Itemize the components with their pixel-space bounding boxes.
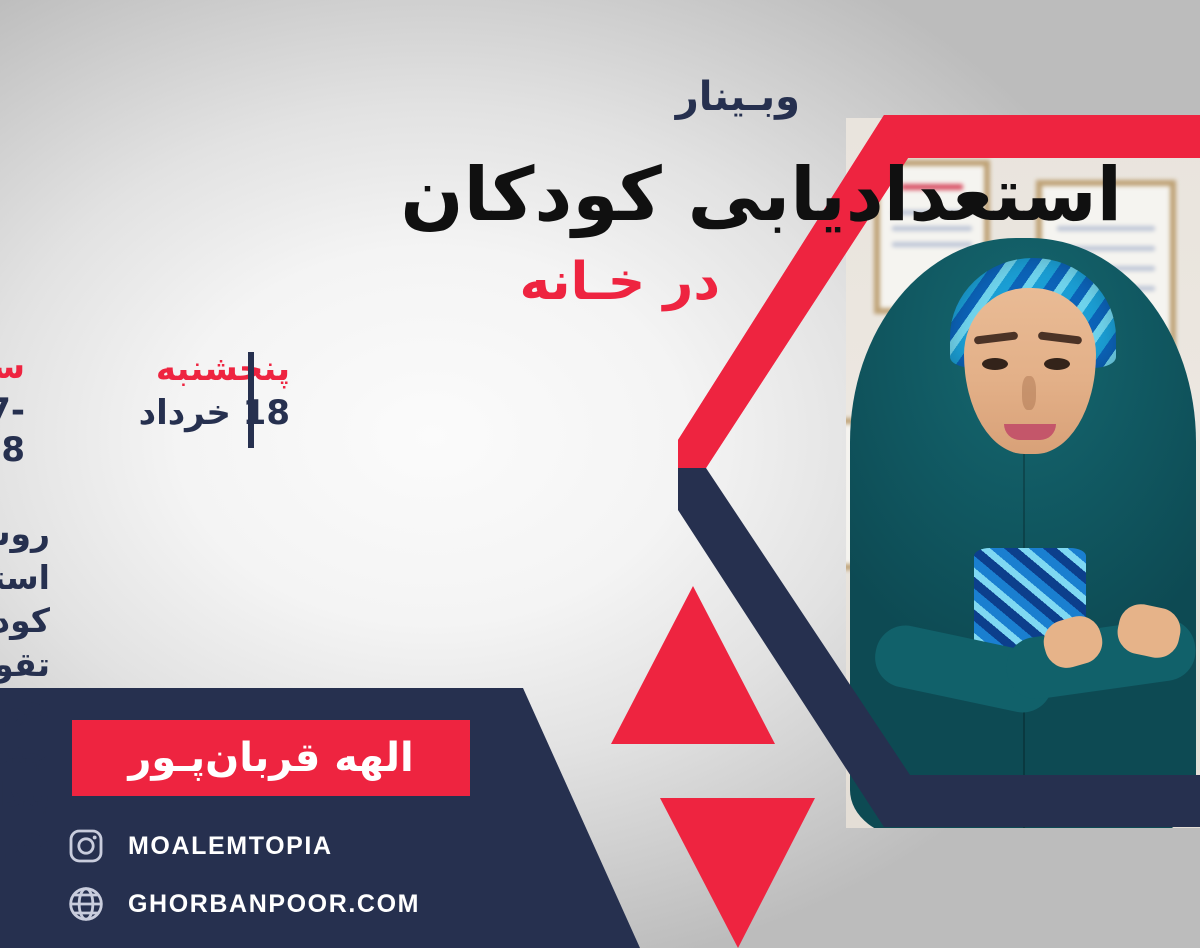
poster-title: استعدادیابی کودکان bbox=[400, 152, 1122, 238]
instagram-handle: MOALEMTOPIA bbox=[128, 832, 333, 861]
website-handle: GHORBANPOOR.COM bbox=[128, 890, 420, 919]
webinar-poster: وبـینار استعدادیابی کودکان در خـانه پنجش… bbox=[0, 0, 1200, 948]
social-website[interactable]: GHORBANPOOR.COM bbox=[66, 884, 420, 924]
globe-icon bbox=[66, 884, 106, 924]
poster-kicker: وبـینار bbox=[676, 74, 800, 120]
presenter-name: الهه قربان‌پـور bbox=[128, 735, 413, 781]
schedule-day: پنجشنبه 18 خرداد bbox=[139, 352, 290, 433]
schedule-time-value: 17-18 bbox=[0, 392, 25, 470]
social-instagram[interactable]: MOALEMTOPIA bbox=[66, 826, 333, 866]
bullet-line: پیدا کردن هوش برتر bbox=[0, 773, 50, 860]
schedule-day-value: 18 خرداد bbox=[139, 394, 290, 433]
poster-subtitle: در خـانه bbox=[519, 252, 720, 312]
red-triangle-down bbox=[0, 0, 1200, 948]
presenter-name-banner: الهه قربان‌پـور bbox=[72, 720, 470, 796]
schedule-time: ساعت 17-18 bbox=[0, 350, 25, 470]
schedule-time-label: ساعت bbox=[0, 350, 25, 386]
poster-bullets: روش استعدادیابی کودکان تقویت هوش های چند… bbox=[0, 512, 50, 860]
bullet-line: تقویت هوش های چندگانه bbox=[0, 643, 50, 774]
bullet-line: روش استعدادیابی کودکان bbox=[0, 512, 50, 643]
schedule-day-label: پنجشنبه bbox=[139, 352, 290, 388]
schedule-divider bbox=[248, 352, 254, 448]
instagram-icon bbox=[66, 826, 106, 866]
